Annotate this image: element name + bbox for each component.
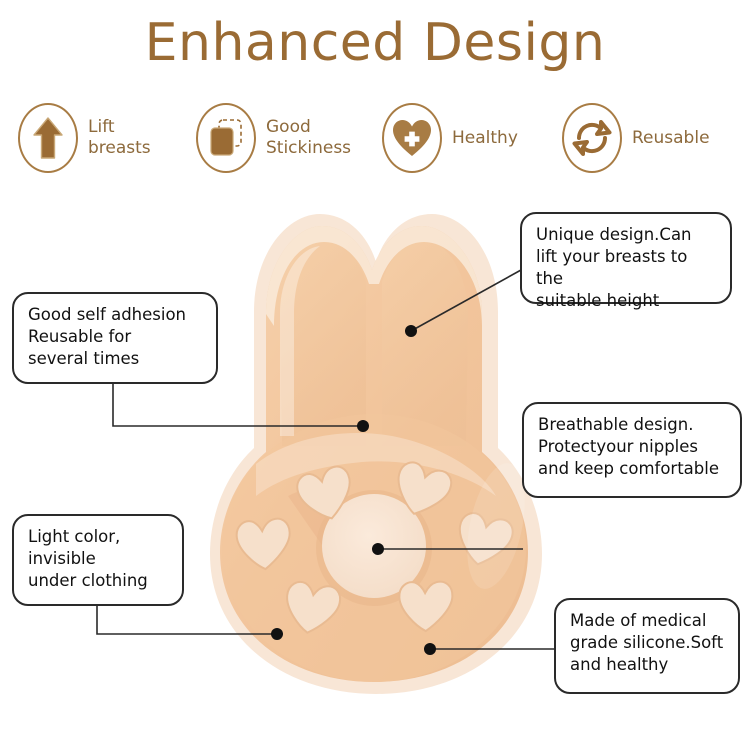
callout-unique-design: Unique design.Can lift your breasts to t… xyxy=(520,212,732,304)
recycle-icon xyxy=(571,117,613,159)
feature-reusable: Reusable xyxy=(562,96,710,180)
rabbit-ear-nipple-cover-graphic xyxy=(196,196,556,708)
feature-label: Reusable xyxy=(632,128,710,149)
feature-label: Lift breasts xyxy=(88,117,151,159)
feature-label: Healthy xyxy=(452,128,518,149)
product-image xyxy=(196,196,556,708)
callout-self-adhesion: Good self adhesion Reusable for several … xyxy=(12,292,218,384)
callout-light-color: Light color, invisible under clothing xyxy=(12,514,184,606)
feature-good-stickiness: Good Stickiness xyxy=(196,96,351,180)
feature-icon-circle xyxy=(562,103,622,173)
feature-healthy: Healthy xyxy=(382,96,518,180)
callout-medical-silicone: Made of medical grade silicone.Soft and … xyxy=(554,598,740,694)
page-title: Enhanced Design xyxy=(0,14,750,72)
feature-strip: Lift breasts Good Stickiness Healthy xyxy=(0,96,750,180)
feature-icon-circle xyxy=(382,103,442,173)
up-arrow-icon xyxy=(33,116,63,160)
feature-icon-circle xyxy=(18,103,78,173)
sticky-pad-icon xyxy=(206,116,246,160)
callout-breathable-design: Breathable design. Protectyour nipples a… xyxy=(522,402,742,498)
heart-plus-icon xyxy=(391,118,433,158)
infographic-page: Enhanced Design Lift breasts Good Sticki… xyxy=(0,0,750,750)
feature-icon-circle xyxy=(196,103,256,173)
feature-label: Good Stickiness xyxy=(266,117,351,159)
feature-lift-breasts: Lift breasts xyxy=(18,96,151,180)
